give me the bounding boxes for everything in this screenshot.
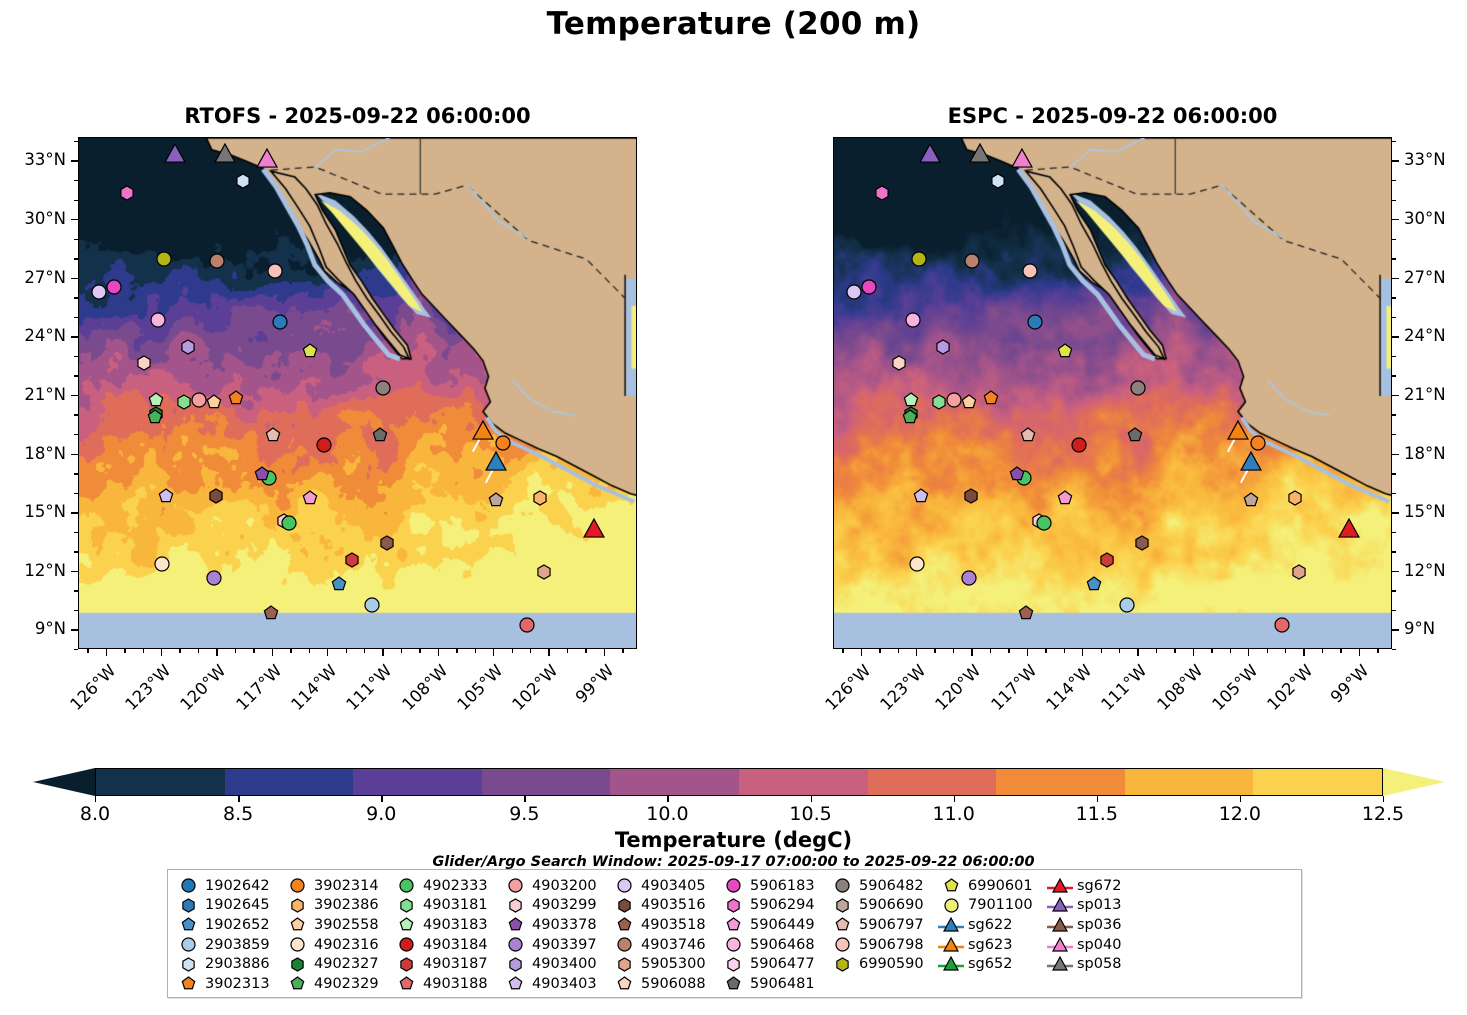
platform-marker[interactable]	[147, 409, 163, 425]
platform-marker[interactable]	[1057, 343, 1073, 359]
y-tick-minor	[1392, 590, 1396, 591]
x-tick-minor	[1377, 649, 1378, 653]
legend-item-label: 6990601	[964, 878, 1033, 894]
platform-marker[interactable]	[485, 452, 506, 473]
x-tick	[604, 649, 605, 656]
platform-marker[interactable]	[891, 355, 907, 371]
platform-marker[interactable]	[905, 312, 921, 328]
legend-item[interactable]: 5906294	[720, 896, 825, 916]
y-tick	[71, 454, 78, 455]
platform-marker[interactable]	[302, 343, 318, 359]
map-panel-rtofs[interactable]: RTOFS - 2025-09-22 06:00:00 126°W123°W12…	[78, 137, 637, 649]
y-tick-minor	[74, 473, 78, 474]
platform-marker[interactable]	[364, 597, 380, 613]
platform-marker[interactable]	[375, 380, 391, 396]
x-tick-label: 105°W	[449, 661, 506, 718]
platform-marker[interactable]	[1274, 617, 1290, 633]
platform-marker[interactable]	[1022, 263, 1038, 279]
legend-item-label: 4903405	[637, 878, 706, 894]
legend-item-label: sp036	[1073, 917, 1121, 933]
platform-marker[interactable]	[206, 394, 222, 410]
y-tick-label: 12°N	[0, 561, 66, 580]
y-tick-minor	[74, 434, 78, 435]
colorbar-tick	[381, 796, 382, 802]
legend-item-label: 4903183	[419, 917, 488, 933]
platform-marker[interactable]	[964, 253, 980, 269]
legend-item-label: sg623	[964, 937, 1012, 953]
legend-item[interactable]: 4903187	[393, 954, 498, 974]
legend-marker-icon	[1047, 955, 1073, 974]
y-tick-label: 15°N	[1404, 502, 1467, 521]
colorbar-title: Temperature (degC)	[0, 828, 1467, 852]
legend-item[interactable]: 5906183	[720, 876, 825, 896]
x-tick-label: 114°W	[1038, 661, 1095, 718]
colorbar-segment	[482, 769, 611, 795]
platform-marker[interactable]	[208, 488, 224, 504]
legend-item[interactable]: sg623	[938, 935, 1043, 955]
legend-item[interactable]: 4903400	[502, 954, 607, 974]
y-tick	[1392, 512, 1399, 513]
legend-item[interactable]: 5906482	[829, 876, 934, 896]
platform-marker[interactable]	[473, 421, 494, 442]
platform-marker[interactable]	[935, 339, 951, 355]
y-tick-minor	[74, 141, 78, 142]
legend-item-label: 4903746	[637, 937, 706, 953]
colorbar-tick	[1383, 796, 1384, 802]
y-tick-label: 18°N	[0, 444, 66, 463]
legend-marker-icon	[393, 935, 419, 954]
legend-marker-icon	[284, 876, 310, 895]
legend-marker-icon	[611, 896, 637, 915]
platform-marker[interactable]	[488, 492, 504, 508]
x-tick-minor	[1174, 649, 1175, 653]
legend-item-label: 4903516	[637, 897, 706, 913]
colorbar-extend-low	[33, 768, 95, 796]
legend-item[interactable]: 4902333	[393, 876, 498, 896]
legend-item[interactable]: 4903397	[502, 935, 607, 955]
map-panel-espc[interactable]: ESPC - 2025-09-22 06:00:00 126°W123°W120…	[833, 137, 1392, 649]
legend-item[interactable]: 4903746	[611, 935, 716, 955]
platform-marker[interactable]	[961, 570, 977, 586]
x-tick	[438, 649, 439, 656]
y-tick	[71, 395, 78, 396]
legend-item[interactable]: 4903188	[393, 974, 498, 994]
legend-item[interactable]: 5906797	[829, 915, 934, 935]
platform-marker[interactable]	[909, 556, 925, 572]
x-tick-minor	[842, 649, 843, 653]
platform-marker[interactable]	[1134, 535, 1150, 551]
legend-item-label: 5906477	[746, 956, 815, 972]
x-tick-minor	[530, 649, 531, 653]
colorbar-tick-label: 9.5	[509, 803, 539, 825]
legend-item[interactable]: 3902313	[175, 974, 280, 994]
legend-marker-icon	[1047, 896, 1073, 915]
platform-marker[interactable]	[1086, 576, 1102, 592]
colorbar-tick-label: 12.0	[1219, 803, 1261, 825]
platform-marker[interactable]	[106, 279, 122, 295]
legend-item[interactable]: 4903183	[393, 915, 498, 935]
legend-item[interactable]: 2903886	[175, 954, 280, 974]
y-tick	[1392, 160, 1399, 161]
legend-marker-icon	[502, 876, 528, 895]
x-tick-label: 99°W	[560, 661, 617, 718]
platform-marker[interactable]	[91, 284, 107, 300]
legend-item[interactable]: 5905300	[611, 954, 716, 974]
y-tick	[1392, 278, 1399, 279]
legend-marker-icon	[611, 974, 637, 993]
legend-item[interactable]: 4903181	[393, 896, 498, 916]
y-tick-label: 27°N	[1404, 268, 1467, 287]
x-tick-minor	[1230, 649, 1231, 653]
platform-marker[interactable]	[532, 490, 548, 506]
platform-marker[interactable]	[316, 437, 332, 453]
x-tick	[493, 649, 494, 656]
y-tick-label: 33°N	[0, 150, 66, 169]
x-tick-label: 117°W	[983, 661, 1040, 718]
legend-marker-icon	[393, 974, 419, 993]
legend-item[interactable]: 6990601	[938, 876, 1043, 896]
platform-marker[interactable]	[1009, 466, 1025, 482]
platform-marker[interactable]	[1287, 490, 1303, 506]
legend-item-label: 3902313	[201, 976, 270, 992]
legend-item[interactable]: 1902645	[175, 896, 280, 916]
platform-marker[interactable]	[154, 556, 170, 572]
y-tick-minor	[1392, 375, 1396, 376]
x-tick	[971, 649, 972, 656]
platform-marker[interactable]	[164, 143, 185, 164]
legend-item-label: sp058	[1073, 956, 1121, 972]
legend-item-label: 5906449	[746, 917, 815, 933]
colorbar-tick	[954, 796, 955, 802]
platform-marker[interactable]	[861, 279, 877, 295]
platform-marker[interactable]	[1018, 605, 1034, 621]
x-tick-minor	[585, 649, 586, 653]
x-tick-minor	[143, 649, 144, 653]
platform-marker[interactable]	[961, 394, 977, 410]
platform-marker[interactable]	[969, 143, 990, 164]
platform-marker[interactable]	[176, 394, 192, 410]
legend-marker-icon	[720, 915, 746, 934]
legend-marker-icon	[611, 876, 637, 895]
legend-marker-icon	[393, 876, 419, 895]
platform-marker[interactable]	[281, 515, 297, 531]
platform-marker[interactable]	[302, 490, 318, 506]
y-tick-minor	[74, 239, 78, 240]
x-tick-minor	[456, 649, 457, 653]
platform-marker[interactable]	[1012, 149, 1033, 170]
platform-marker[interactable]	[919, 143, 940, 164]
colorbar-tick-label: 8.0	[80, 803, 110, 825]
platform-marker[interactable]	[254, 466, 270, 482]
platform-marker[interactable]	[913, 488, 929, 504]
platform-marker[interactable]	[191, 392, 207, 408]
legend-item[interactable]: sp058	[1047, 954, 1147, 974]
x-tick	[1082, 649, 1083, 656]
y-tick-minor	[1392, 200, 1396, 201]
legend-column: 3902314390238639025584902316490232749023…	[284, 876, 389, 994]
colorbar-tick-label: 8.5	[223, 803, 253, 825]
legend-item-empty	[829, 974, 934, 994]
platform-marker[interactable]	[119, 185, 135, 201]
x-tick	[1359, 649, 1360, 656]
platform-marker[interactable]	[158, 488, 174, 504]
x-tick-label: 117°W	[228, 661, 285, 718]
legend-item[interactable]: 4903403	[502, 974, 607, 994]
legend-marker-icon	[284, 915, 310, 934]
x-tick-label: 111°W	[339, 661, 396, 718]
platform-legend[interactable]: 1902642190264519026522903859290388639023…	[167, 869, 1302, 998]
platform-marker[interactable]	[1338, 518, 1359, 539]
platform-marker[interactable]	[209, 253, 225, 269]
platform-marker[interactable]	[931, 394, 947, 410]
y-tick	[71, 571, 78, 572]
platform-marker[interactable]	[519, 617, 535, 633]
y-tick	[1392, 336, 1399, 337]
colorbar-extend-high	[1383, 768, 1445, 796]
legend-item[interactable]: 4903200	[502, 876, 607, 896]
legend-item-label: 2903859	[201, 937, 270, 953]
platform-marker[interactable]	[1119, 597, 1135, 613]
y-tick-label: 15°N	[0, 502, 66, 521]
platform-marker[interactable]	[272, 314, 288, 330]
y-tick-label: 30°N	[0, 209, 66, 228]
platform-marker[interactable]	[911, 251, 927, 267]
platform-marker[interactable]	[1099, 552, 1115, 568]
platform-marker[interactable]	[257, 149, 278, 170]
legend-item[interactable]: 5906088	[611, 974, 716, 994]
x-tick-minor	[1156, 649, 1157, 653]
platform-marker[interactable]	[1057, 490, 1073, 506]
platform-marker[interactable]	[331, 576, 347, 592]
legend-item[interactable]: sp036	[1047, 915, 1147, 935]
legend-column: 5906183590629459064495906468590647759064…	[720, 876, 825, 994]
x-tick-label: 114°W	[283, 661, 340, 718]
legend-item-label: sg622	[964, 917, 1012, 933]
legend-column: 69906017901100sg622sg623sg652	[938, 876, 1043, 994]
y-tick-minor	[1392, 414, 1396, 415]
panel-title-espc: ESPC - 2025-09-22 06:00:00	[833, 104, 1392, 128]
x-tick-minor	[567, 649, 568, 653]
platform-marker[interactable]	[379, 535, 395, 551]
platform-marker[interactable]	[263, 605, 279, 621]
platform-marker[interactable]	[1036, 515, 1052, 531]
x-tick	[382, 649, 383, 656]
platform-marker[interactable]	[846, 284, 862, 300]
platform-marker[interactable]	[206, 570, 222, 586]
platform-marker[interactable]	[583, 518, 604, 539]
x-tick	[216, 649, 217, 656]
legend-item[interactable]: 5906798	[829, 935, 934, 955]
y-tick-minor	[74, 180, 78, 181]
platform-marker[interactable]	[228, 390, 244, 406]
x-tick	[106, 649, 107, 656]
x-tick-label: 120°W	[173, 661, 230, 718]
y-tick-minor	[74, 551, 78, 552]
legend-marker-icon	[1047, 935, 1073, 954]
y-tick-label: 9°N	[1404, 619, 1467, 638]
legend-item[interactable]: sg672	[1047, 876, 1147, 896]
legend-item[interactable]: 2903859	[175, 935, 280, 955]
platform-marker[interactable]	[874, 185, 890, 201]
platform-marker[interactable]	[265, 427, 281, 443]
colorbar-tick	[524, 796, 525, 802]
legend-marker-icon	[611, 955, 637, 974]
platform-marker[interactable]	[990, 173, 1006, 189]
legend-item[interactable]: 7901100	[938, 896, 1043, 916]
platform-marker[interactable]	[983, 390, 999, 406]
y-tick-minor	[1392, 141, 1396, 142]
legend-item[interactable]: 4902327	[284, 954, 389, 974]
legend-item-label: 1902645	[201, 897, 270, 913]
legend-item-label: 1902642	[201, 878, 270, 894]
y-tick-label: 33°N	[1404, 150, 1467, 169]
colorbar-tick-label: 12.5	[1362, 803, 1404, 825]
x-tick	[1027, 649, 1028, 656]
legend-item[interactable]: 3902314	[284, 876, 389, 896]
colorbar-segment	[225, 769, 354, 795]
panel-title-rtofs: RTOFS - 2025-09-22 06:00:00	[78, 104, 637, 128]
legend-marker-icon	[829, 915, 855, 934]
platform-marker[interactable]	[136, 355, 152, 371]
platform-marker[interactable]	[1291, 564, 1307, 580]
platform-marker[interactable]	[235, 173, 251, 189]
platform-marker[interactable]	[902, 409, 918, 425]
x-tick-label: 108°W	[1149, 661, 1206, 718]
legend-item[interactable]: sg622	[938, 915, 1043, 935]
colorbar[interactable]	[95, 768, 1383, 796]
legend-item-label: 4902333	[419, 878, 488, 894]
legend-item-label: 3902558	[310, 917, 379, 933]
legend-item[interactable]: 4903516	[611, 896, 716, 916]
legend-item[interactable]: 5906690	[829, 896, 934, 916]
y-tick-minor	[1392, 532, 1396, 533]
x-tick-label: 120°W	[928, 661, 985, 718]
y-tick-minor	[1392, 258, 1396, 259]
legend-marker-icon	[393, 915, 419, 934]
platform-marker[interactable]	[1127, 427, 1143, 443]
map-frame-rtofs[interactable]	[78, 137, 637, 649]
legend-item[interactable]: 5906477	[720, 954, 825, 974]
x-tick-minor	[309, 649, 310, 653]
y-tick-minor	[74, 649, 78, 650]
platform-marker[interactable]	[1228, 421, 1249, 442]
legend-item-label: 4903400	[528, 956, 597, 972]
legend-marker-icon	[720, 935, 746, 954]
colorbar-tick	[667, 796, 668, 802]
platform-marker[interactable]	[372, 427, 388, 443]
legend-marker-icon	[284, 955, 310, 974]
legend-item-label: 4903187	[419, 956, 488, 972]
legend-column: 4903200490329949033784903397490340049034…	[502, 876, 607, 994]
y-tick-label: 21°N	[1404, 385, 1467, 404]
x-tick-minor	[124, 649, 125, 653]
legend-item[interactable]: 1902642	[175, 876, 280, 896]
legend-item[interactable]: sg652	[938, 954, 1043, 974]
y-tick	[71, 160, 78, 161]
platform-marker[interactable]	[946, 392, 962, 408]
platform-marker[interactable]	[156, 251, 172, 267]
colorbar-tick-label: 10.0	[646, 803, 688, 825]
legend-item[interactable]: 4903378	[502, 915, 607, 935]
legend-item[interactable]: 5906481	[720, 974, 825, 994]
x-tick-minor	[1119, 649, 1120, 653]
x-tick-minor	[1322, 649, 1323, 653]
y-tick-minor	[74, 258, 78, 259]
x-tick-minor	[475, 649, 476, 653]
y-tick	[71, 219, 78, 220]
platform-marker[interactable]	[1027, 314, 1043, 330]
y-tick-minor	[1392, 180, 1396, 181]
platform-marker[interactable]	[214, 143, 235, 164]
platform-marker[interactable]	[495, 435, 511, 451]
x-tick-minor	[934, 649, 935, 653]
legend-item[interactable]: 5906468	[720, 935, 825, 955]
legend-item[interactable]: 4902329	[284, 974, 389, 994]
x-tick-label: 111°W	[1094, 661, 1151, 718]
page-title: Temperature (200 m)	[0, 6, 1467, 42]
legend-marker-icon	[175, 935, 201, 954]
x-tick	[327, 649, 328, 656]
legend-item-label: 5906797	[855, 917, 924, 933]
platform-marker[interactable]	[180, 339, 196, 355]
legend-item[interactable]: 3902558	[284, 915, 389, 935]
y-tick	[71, 512, 78, 513]
legend-item-label: sp040	[1073, 937, 1121, 953]
legend-item[interactable]: 4903518	[611, 915, 716, 935]
platform-marker[interactable]	[150, 312, 166, 328]
map-frame-espc[interactable]	[833, 137, 1392, 649]
legend-item[interactable]: 6990590	[829, 954, 934, 974]
platform-marker[interactable]	[1071, 437, 1087, 453]
legend-item[interactable]: 4902316	[284, 935, 389, 955]
y-tick-minor	[1392, 356, 1396, 357]
legend-item[interactable]: 4903184	[393, 935, 498, 955]
x-tick-minor	[1340, 649, 1341, 653]
platform-marker[interactable]	[1240, 452, 1261, 473]
x-tick	[1248, 649, 1249, 656]
y-tick-minor	[1392, 473, 1396, 474]
platform-marker[interactable]	[1250, 435, 1266, 451]
legend-item[interactable]: sp013	[1047, 896, 1147, 916]
legend-item-label: 2903886	[201, 956, 270, 972]
platform-marker[interactable]	[963, 488, 979, 504]
legend-item-label: 5906294	[746, 897, 815, 913]
platform-marker[interactable]	[1130, 380, 1146, 396]
platform-marker[interactable]	[1243, 492, 1259, 508]
legend-item[interactable]: 3902386	[284, 896, 389, 916]
platform-marker[interactable]	[1020, 427, 1036, 443]
legend-marker-icon	[284, 896, 310, 915]
platform-marker[interactable]	[344, 552, 360, 568]
legend-item[interactable]: 4903405	[611, 876, 716, 896]
x-tick-minor	[1267, 649, 1268, 653]
colorbar-segment	[996, 769, 1125, 795]
y-tick	[1392, 454, 1399, 455]
legend-item-label: sg652	[964, 956, 1012, 972]
legend-marker-icon	[175, 896, 201, 915]
y-tick	[1392, 629, 1399, 630]
legend-item[interactable]: sp040	[1047, 935, 1147, 955]
platform-marker[interactable]	[267, 263, 283, 279]
x-tick-label: 108°W	[394, 661, 451, 718]
platform-marker[interactable]	[536, 564, 552, 580]
legend-item[interactable]: 1902652	[175, 915, 280, 935]
legend-item[interactable]: 4903299	[502, 896, 607, 916]
y-tick	[71, 629, 78, 630]
legend-item-label: 5906798	[855, 937, 924, 953]
x-tick	[1137, 649, 1138, 656]
legend-item[interactable]: 5906449	[720, 915, 825, 935]
